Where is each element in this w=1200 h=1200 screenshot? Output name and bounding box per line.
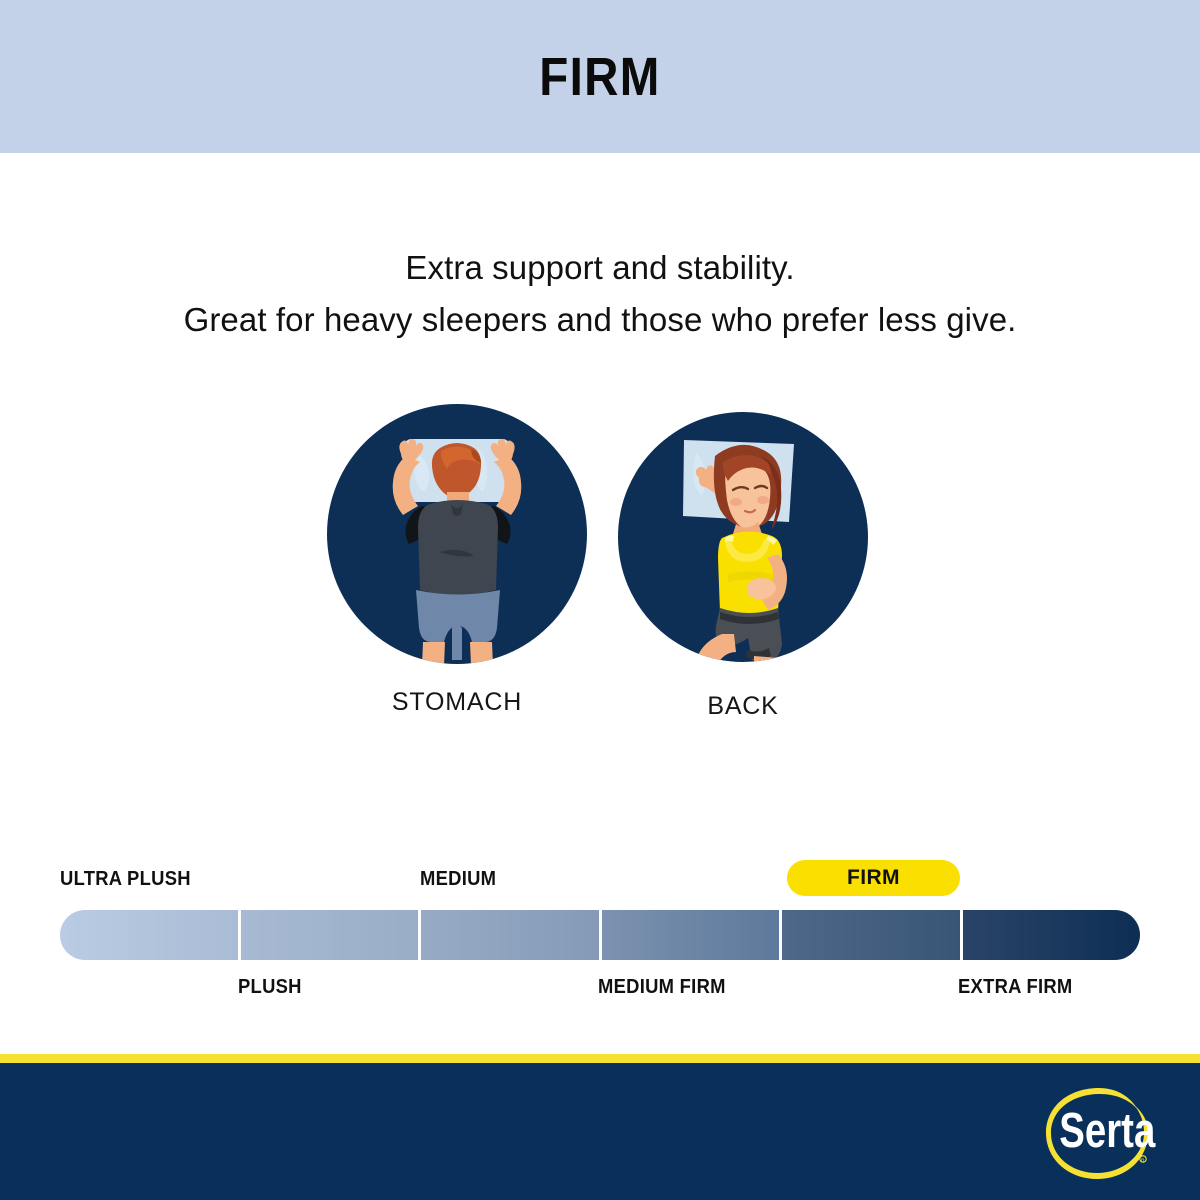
firmness-scale-bar	[60, 910, 1140, 960]
scale-segment-extra-firm[interactable]	[963, 910, 1141, 960]
scale-label-medium: MEDIUM	[420, 868, 496, 891]
scale-segment-medium-firm[interactable]	[602, 910, 783, 960]
scale-label-medium-firm: MEDIUM FIRM	[598, 976, 726, 999]
scale-segment-firm[interactable]	[782, 910, 963, 960]
sleep-position-label: BACK	[618, 692, 868, 721]
serta-logo[interactable]: Serta R	[1042, 1085, 1164, 1183]
scale-label-extra-firm: EXTRA FIRM	[958, 976, 1073, 999]
sleep-position-group: STOMACH	[0, 404, 1200, 754]
person-sleeping-on-back-icon	[618, 412, 868, 662]
serta-logo-text: Serta	[1059, 1104, 1156, 1158]
footer-band: Serta R	[0, 1063, 1200, 1200]
description-text: Extra support and stability. Great for h…	[0, 242, 1200, 346]
firmness-infographic: FIRM Extra support and stability. Great …	[0, 0, 1200, 1200]
scale-selected-badge-firm[interactable]: FIRM	[787, 860, 960, 896]
person-sleeping-on-stomach-icon	[327, 404, 587, 664]
scale-segment-ultra-plush[interactable]	[60, 910, 241, 960]
scale-segment-medium[interactable]	[421, 910, 602, 960]
footer-accent-stripe	[0, 1054, 1200, 1063]
sleep-position-back: BACK	[618, 412, 868, 721]
scale-segment-plush[interactable]	[241, 910, 422, 960]
description-line-2: Great for heavy sleepers and those who p…	[0, 294, 1200, 346]
description-line-1: Extra support and stability.	[0, 242, 1200, 294]
header-band: FIRM	[0, 0, 1200, 153]
sleep-position-label: STOMACH	[327, 688, 587, 717]
scale-label-plush: PLUSH	[238, 976, 302, 999]
scale-label-ultra-plush: ULTRA PLUSH	[60, 868, 191, 891]
page-title: FIRM	[539, 46, 660, 108]
firmness-scale: ULTRA PLUSH MEDIUM FIRM PLUSH MEDIUM FIR…	[60, 860, 1140, 1005]
sleep-position-stomach: STOMACH	[327, 404, 587, 717]
